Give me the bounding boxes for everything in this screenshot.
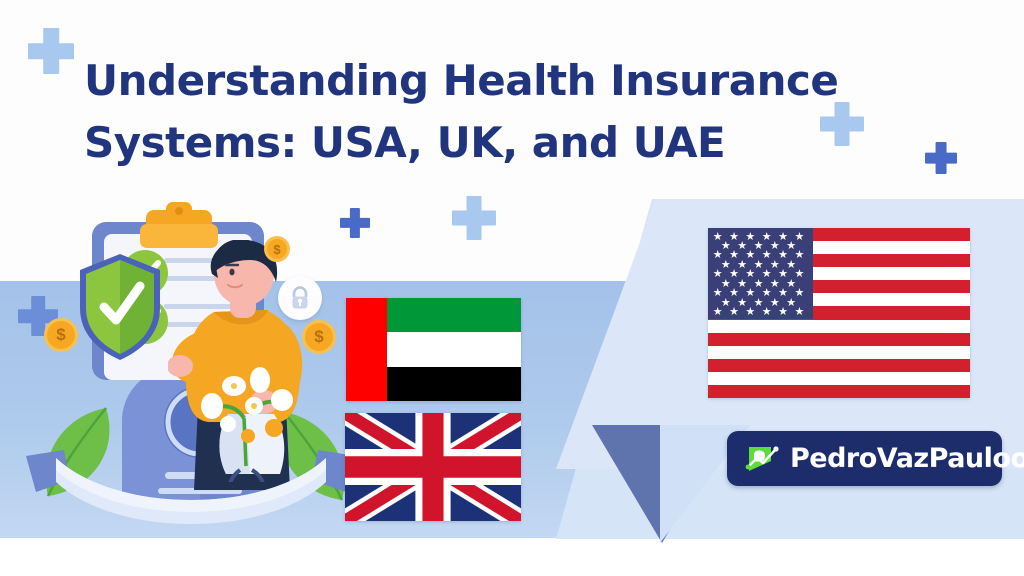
page-title-line-2: Systems: USA, UK, and UAE <box>84 112 884 174</box>
uae-flag <box>346 298 521 401</box>
ribbon-banner <box>26 440 356 540</box>
background-bottom-white <box>0 538 1024 576</box>
plus-mark-3 <box>452 196 496 240</box>
brand-logo-text: PedroVazPauloo <box>790 443 1024 474</box>
usa-flag-star: ★ <box>713 307 723 317</box>
growth-chart-p-icon <box>745 443 779 475</box>
uae-flag-white-band <box>387 332 521 366</box>
page-title: Understanding Health Insurance Systems: … <box>84 50 884 174</box>
usa-flag-star: ★ <box>778 307 788 317</box>
health-insurance-illustration: $ $ $ <box>28 196 358 540</box>
plus-mark-1 <box>28 28 74 74</box>
banner-canvas: Understanding Health Insurance Systems: … <box>0 0 1024 576</box>
coin-dollar-icon-1: $ <box>44 318 78 352</box>
page-title-line-1: Understanding Health Insurance <box>84 50 884 112</box>
coin-dollar-icon-3: $ <box>302 320 336 354</box>
usa-flag-star: ★ <box>794 307 804 317</box>
coin-dollar-icon-2: $ <box>264 236 290 262</box>
uae-flag-green-band <box>387 298 521 332</box>
uk-flag-union-jack <box>345 413 521 521</box>
plus-mark-5 <box>925 142 957 174</box>
shield-check-icon <box>76 252 164 362</box>
usa-flag-star: ★ <box>729 307 739 317</box>
usa-flag-star: ★ <box>762 307 772 317</box>
usa-flag-star: ★ <box>745 307 755 317</box>
uk-flag <box>345 413 521 521</box>
brand-logo-badge[interactable]: PedroVazPauloo <box>727 431 1002 486</box>
lock-icon <box>278 276 322 320</box>
uae-flag-red-band <box>346 298 387 401</box>
usa-flag: ★★★★★★★★★★★★★★★★★★★★★★★★★★★★★★★★★★★★★★★★… <box>708 228 970 398</box>
uae-flag-black-band <box>387 367 521 401</box>
usa-flag-canton: ★★★★★★★★★★★★★★★★★★★★★★★★★★★★★★★★★★★★★★★★… <box>708 228 813 319</box>
